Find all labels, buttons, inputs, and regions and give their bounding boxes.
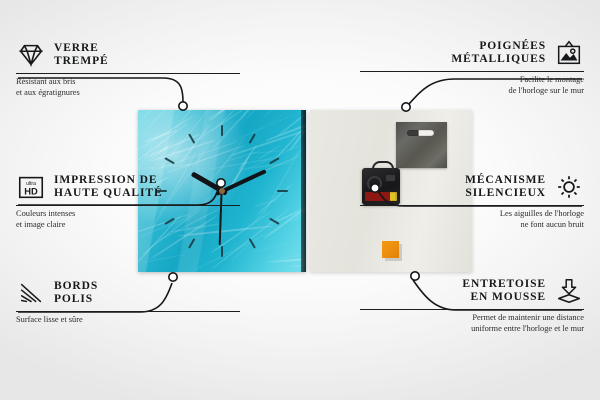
diamond-icon xyxy=(16,40,46,70)
gear-icon xyxy=(554,172,584,202)
feature-title-line1: ENTRETOISE xyxy=(462,278,546,291)
clock-tick xyxy=(188,238,195,249)
feature-desc-line2: ne font aucun bruit xyxy=(360,220,584,231)
feature-title-line2: SILENCIEUX xyxy=(465,187,546,200)
feature-divider xyxy=(16,205,240,206)
feature-divider xyxy=(360,309,584,310)
feature-entretoise-en-mousse: ENTRETOISE EN MOUSSE Permet de maintenir… xyxy=(360,276,584,334)
feature-title-line2: HAUTE QUALITÉ xyxy=(54,187,163,200)
clock-tick xyxy=(269,157,280,164)
hotspot-verre xyxy=(179,102,187,110)
polished-edge-icon xyxy=(16,278,46,308)
feature-desc-line2: et aux égratignures xyxy=(16,88,240,99)
panel-edge-shadow xyxy=(301,110,306,272)
feature-verre-trempe: VERRE TREMPÉ Résistant aux bris et aux é… xyxy=(16,40,240,98)
feature-divider xyxy=(16,73,240,74)
svg-text:HD: HD xyxy=(24,187,38,197)
ultra-hd-icon: ultra HD xyxy=(16,172,46,202)
foam-spacer-icon xyxy=(554,276,584,306)
clock-tick xyxy=(269,218,280,225)
clock-tick xyxy=(277,190,288,192)
clock-tick xyxy=(249,133,256,144)
mechanism-hanging-loop xyxy=(372,161,394,172)
hanging-frame-icon xyxy=(554,38,584,68)
clock-tick xyxy=(249,238,256,249)
feature-desc-line2: uniforme entre l'horloge et le mur xyxy=(360,324,584,335)
feature-title-line1: IMPRESSION DE xyxy=(54,174,163,187)
feature-desc-line1: Couleurs intenses xyxy=(16,209,240,220)
feature-desc-line1: Permet de maintenir une distance xyxy=(360,313,584,324)
feature-desc-line1: Les aiguilles de l'horloge xyxy=(360,209,584,220)
feature-desc-line1: Surface lisse et sûre xyxy=(16,315,240,326)
feature-title-line2: TREMPÉ xyxy=(54,55,109,68)
feature-title-line2: POLIS xyxy=(54,293,98,306)
feature-title-line2: EN MOUSSE xyxy=(462,291,546,304)
feature-poignees-metalliques: POIGNÉES MÉTALLIQUES Facilite le montage… xyxy=(360,38,584,96)
feature-bords-polis: BORDS POLIS Surface lisse et sûre xyxy=(16,278,240,326)
feature-desc-line2: et image claire xyxy=(16,220,240,231)
feature-title-line1: MÉCANISME xyxy=(465,174,546,187)
feature-title-line1: POIGNÉES xyxy=(451,40,546,53)
hanger-slot xyxy=(407,130,434,136)
clock-tick xyxy=(221,246,223,257)
feature-desc-line2: de l'horloge sur le mur xyxy=(360,86,584,97)
clock-tick xyxy=(164,157,175,164)
feature-divider xyxy=(360,71,584,72)
feature-mecanisme-silencieux: MÉCANISME SILENCIEUX Les aiguilles de l'… xyxy=(360,172,584,230)
feature-title-line1: VERRE xyxy=(54,42,109,55)
feature-impression-haute-qualite: ultra HD IMPRESSION DE HAUTE QUALITÉ Cou… xyxy=(16,172,240,230)
feature-desc-line1: Facilite le montage xyxy=(360,75,584,86)
feature-title-line2: MÉTALLIQUES xyxy=(451,53,546,66)
foam-spacer xyxy=(382,241,399,258)
clock-tick xyxy=(221,125,223,136)
clock-tick xyxy=(188,133,195,144)
feature-title-line1: BORDS xyxy=(54,280,98,293)
feature-divider xyxy=(16,311,240,312)
feature-desc-line1: Résistant aux bris xyxy=(16,77,240,88)
feature-divider xyxy=(360,205,584,206)
infographic-canvas: VERRE TREMPÉ Résistant aux bris et aux é… xyxy=(0,0,600,400)
metal-hanger-plate xyxy=(396,122,447,168)
